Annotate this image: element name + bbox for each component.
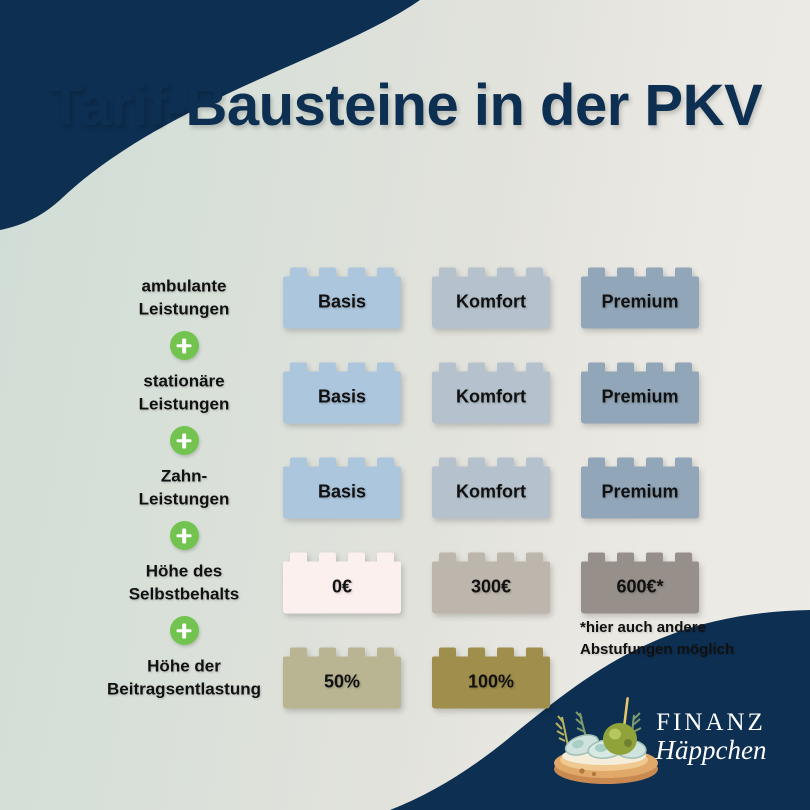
footnote: *hier auch andere Abstufungen möglich — [580, 617, 790, 661]
brick-label: 100% — [468, 672, 514, 693]
brick-beitragsentlastung-100[interactable]: 100% — [432, 656, 550, 708]
row-bricks: Basis Komfort Premium — [283, 362, 699, 423]
row-label-line2: Beitragsentlastung — [78, 678, 290, 701]
brick-label: 50% — [324, 672, 360, 693]
row-label-line1: Zahn- — [78, 464, 290, 487]
brick-basis[interactable]: Basis — [283, 371, 401, 423]
brick-beitragsentlastung-50[interactable]: 50% — [283, 656, 401, 708]
row-label-line2: Leistungen — [78, 298, 290, 321]
row-label-line1: Höhe des — [78, 559, 290, 582]
brick-studs — [290, 267, 394, 276]
logo-text: FINANZ Häppchen — [636, 709, 786, 766]
brick-studs — [290, 362, 394, 371]
brick-studs — [439, 647, 543, 656]
brick-premium[interactable]: Premium — [581, 371, 699, 423]
brick-premium[interactable]: Premium — [581, 466, 699, 518]
brick-label: Premium — [601, 482, 678, 503]
brick-selbstbehalt-600[interactable]: 600€* — [581, 561, 699, 613]
brick-basis[interactable]: Basis — [283, 276, 401, 328]
page-title: Tarif-Bausteine in der PKV — [0, 72, 810, 139]
brick-studs — [290, 647, 394, 656]
row-bricks: 0€ 300€ 600€* — [283, 552, 699, 613]
brick-studs — [588, 362, 692, 371]
row-stationaere-leistungen: stationäre Leistungen Basis Komfort — [0, 345, 810, 440]
brick-basis[interactable]: Basis — [283, 466, 401, 518]
row-hoehe-des-selbstbehalts: Höhe des Selbstbehalts 0€ 300€ — [0, 535, 810, 630]
row-label-line2: Leistungen — [78, 488, 290, 511]
brick-label: Basis — [318, 482, 366, 503]
row-label-line2: Leistungen — [78, 393, 290, 416]
brand-logo: FINANZ Häppchen — [544, 687, 794, 792]
footnote-line1: *hier auch andere — [580, 617, 790, 639]
brick-label: Komfort — [456, 387, 526, 408]
brick-selbstbehalt-300[interactable]: 300€ — [432, 561, 550, 613]
brick-label: 600€* — [616, 577, 663, 598]
brick-komfort[interactable]: Komfort — [432, 276, 550, 328]
row-label: Höhe der Beitragsentlastung — [78, 654, 290, 701]
brick-label: Premium — [601, 387, 678, 408]
brick-studs — [439, 552, 543, 561]
row-label-line2: Selbstbehalts — [78, 583, 290, 606]
footnote-line2: Abstufungen möglich — [580, 639, 790, 661]
row-label: Zahn- Leistungen — [78, 464, 290, 511]
brick-label: Komfort — [456, 482, 526, 503]
row-label-line1: Höhe der — [78, 654, 290, 677]
brick-komfort[interactable]: Komfort — [432, 466, 550, 518]
row-zahn-leistungen: Zahn- Leistungen Basis Komfort — [0, 440, 810, 535]
row-bricks: Basis Komfort Premium — [283, 267, 699, 328]
row-bricks: Basis Komfort Premium — [283, 457, 699, 518]
brick-premium[interactable]: Premium — [581, 276, 699, 328]
brick-studs — [290, 457, 394, 466]
brick-komfort[interactable]: Komfort — [432, 371, 550, 423]
brick-selbstbehalt-0[interactable]: 0€ — [283, 561, 401, 613]
brick-label: 0€ — [332, 577, 352, 598]
logo-name-bottom: Häppchen — [636, 735, 786, 766]
brick-studs — [439, 267, 543, 276]
row-label: ambulante Leistungen — [78, 274, 290, 321]
row-label-line1: stationäre — [78, 369, 290, 392]
logo-name-top: FINANZ — [636, 709, 786, 737]
brick-label: Komfort — [456, 292, 526, 313]
brick-label: Premium — [601, 292, 678, 313]
row-label-line1: ambulante — [78, 274, 290, 297]
brick-studs — [439, 362, 543, 371]
brick-label: 300€ — [471, 577, 511, 598]
brick-studs — [439, 457, 543, 466]
brick-studs — [588, 457, 692, 466]
infographic-canvas: Tarif-Bausteine in der PKV ambulante Lei… — [0, 0, 810, 810]
row-ambulante-leistungen: ambulante Leistungen Basis Komfort — [0, 250, 810, 345]
row-bricks: 50% 100% — [283, 647, 550, 708]
brick-studs — [588, 267, 692, 276]
row-label: Höhe des Selbstbehalts — [78, 559, 290, 606]
brick-label: Basis — [318, 292, 366, 313]
brick-label: Basis — [318, 387, 366, 408]
brick-studs — [290, 552, 394, 561]
brick-studs — [588, 552, 692, 561]
row-label: stationäre Leistungen — [78, 369, 290, 416]
